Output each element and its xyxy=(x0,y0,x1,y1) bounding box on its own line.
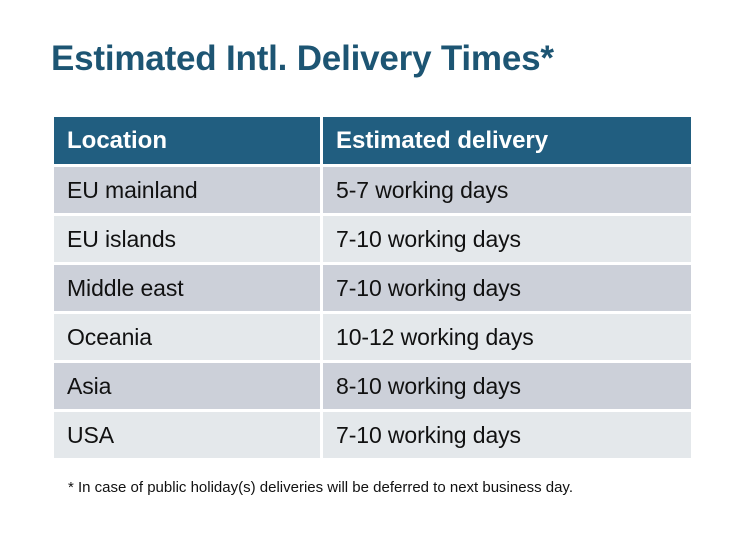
delivery-times-table: Location Estimated delivery EU mainland … xyxy=(51,114,694,461)
table-row: Oceania 10-12 working days xyxy=(54,314,691,360)
table-row: USA 7-10 working days xyxy=(54,412,691,458)
footnote-text: * In case of public holiday(s) deliverie… xyxy=(68,479,573,496)
cell-location: EU islands xyxy=(54,216,320,262)
cell-delivery: 7-10 working days xyxy=(323,265,691,311)
table-body: EU mainland 5-7 working days EU islands … xyxy=(54,167,691,458)
column-header-location: Location xyxy=(54,117,320,164)
cell-location: Asia xyxy=(54,363,320,409)
cell-location: EU mainland xyxy=(54,167,320,213)
column-header-estimated-delivery: Estimated delivery xyxy=(323,117,691,164)
table-row: Middle east 7-10 working days xyxy=(54,265,691,311)
cell-delivery: 7-10 working days xyxy=(323,216,691,262)
table-row: Asia 8-10 working days xyxy=(54,363,691,409)
cell-delivery: 7-10 working days xyxy=(323,412,691,458)
table-header-row: Location Estimated delivery xyxy=(54,117,691,164)
cell-delivery: 5-7 working days xyxy=(323,167,691,213)
table-row: EU mainland 5-7 working days xyxy=(54,167,691,213)
table-header: Location Estimated delivery xyxy=(54,117,691,164)
page-title: Estimated Intl. Delivery Times* xyxy=(51,37,554,81)
cell-location: USA xyxy=(54,412,320,458)
cell-location: Middle east xyxy=(54,265,320,311)
table-row: EU islands 7-10 working days xyxy=(54,216,691,262)
cell-location: Oceania xyxy=(54,314,320,360)
cell-delivery: 8-10 working days xyxy=(323,363,691,409)
cell-delivery: 10-12 working days xyxy=(323,314,691,360)
delivery-times-page: Estimated Intl. Delivery Times* Location… xyxy=(0,0,745,536)
